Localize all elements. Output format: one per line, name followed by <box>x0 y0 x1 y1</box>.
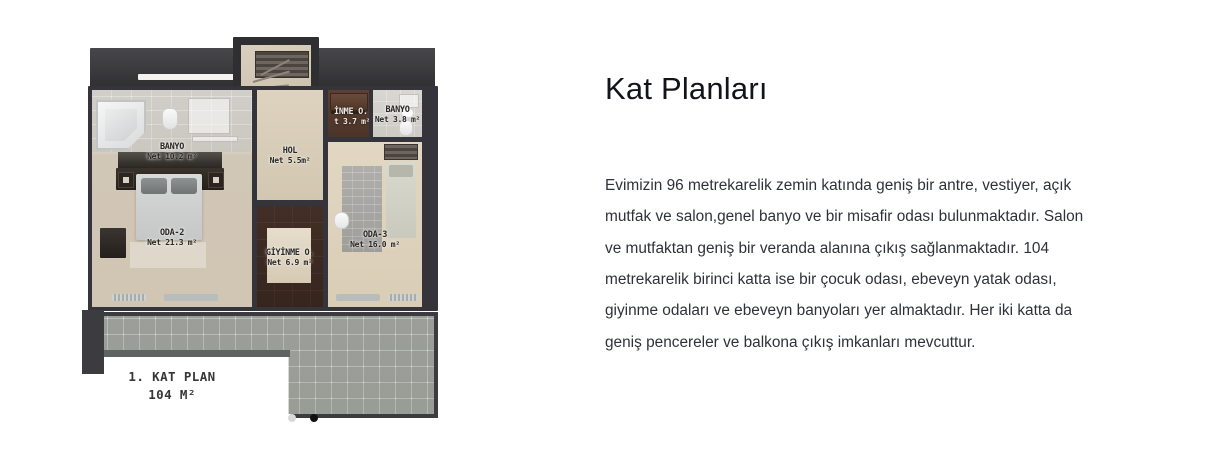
floorplan-carousel[interactable]: BANYO Net 10.2 m² ODA-2 Net 21.3 m² HOL … <box>0 0 605 450</box>
room-label-giyinme: GİYİNME O. Net 6.9 m² <box>257 248 323 268</box>
room-banyo-small: BANYO Net 3.8 m² <box>373 90 422 137</box>
room-label-banyo-small: BANYO Net 3.8 m² <box>373 105 422 125</box>
section-description: Evimizin 96 metrekarelik zemin katında g… <box>605 170 1092 358</box>
floorplan-caption-area: 104 M² <box>82 386 262 404</box>
carousel-dot-1[interactable] <box>288 414 296 422</box>
page-title: Kat Planları <box>605 70 1100 107</box>
room-label-hol: HOL Net 5.5m² <box>257 146 323 166</box>
window-sill <box>164 294 218 301</box>
room-label-oda-2: ODA-2 Net 21.3 m² <box>92 228 252 248</box>
room-label-giyinme-small: İNME O. t 3.7 m² <box>334 107 369 127</box>
window-sill-oda3 <box>336 294 380 301</box>
radiator-oda3-icon <box>388 294 418 301</box>
room-oda-2: BANYO Net 10.2 m² ODA-2 Net 21.3 m² <box>92 90 252 307</box>
room-giyinme-odasi: GİYİNME O. Net 6.9 m² <box>257 206 323 307</box>
room-giyinme-odasi-small: İNME O. t 3.7 m² <box>328 90 369 137</box>
floor-plans-section: BANYO Net 10.2 m² ODA-2 Net 21.3 m² HOL … <box>0 0 1210 450</box>
section-text: Kat Planları Evimizin 96 metrekarelik ze… <box>605 0 1210 450</box>
floorplan-caption-title: 1. KAT PLAN <box>82 368 262 386</box>
floorplan-caption: 1. KAT PLAN 104 M² <box>82 368 262 404</box>
room-label-oda-3: ODA-3 Net 16.0 m² <box>328 230 422 250</box>
carousel-dots[interactable] <box>0 414 605 422</box>
balcony-railing <box>92 350 290 357</box>
room-label-banyo: BANYO Net 10.2 m² <box>92 142 252 162</box>
floorplan-image[interactable]: BANYO Net 10.2 m² ODA-2 Net 21.3 m² HOL … <box>72 30 452 400</box>
carousel-dot-2[interactable] <box>310 414 318 422</box>
chair-icon <box>334 212 349 229</box>
single-bed-icon <box>386 162 416 238</box>
wall-cabinet-icon <box>384 144 418 160</box>
mirror-icon <box>188 98 230 134</box>
balcony-side-wall <box>82 310 104 374</box>
toilet-icon <box>162 108 178 130</box>
room-hol: HOL Net 5.5m² <box>257 90 323 200</box>
room-oda-3: ODA-3 Net 16.0 m² <box>328 142 422 307</box>
radiator-icon <box>112 294 146 301</box>
